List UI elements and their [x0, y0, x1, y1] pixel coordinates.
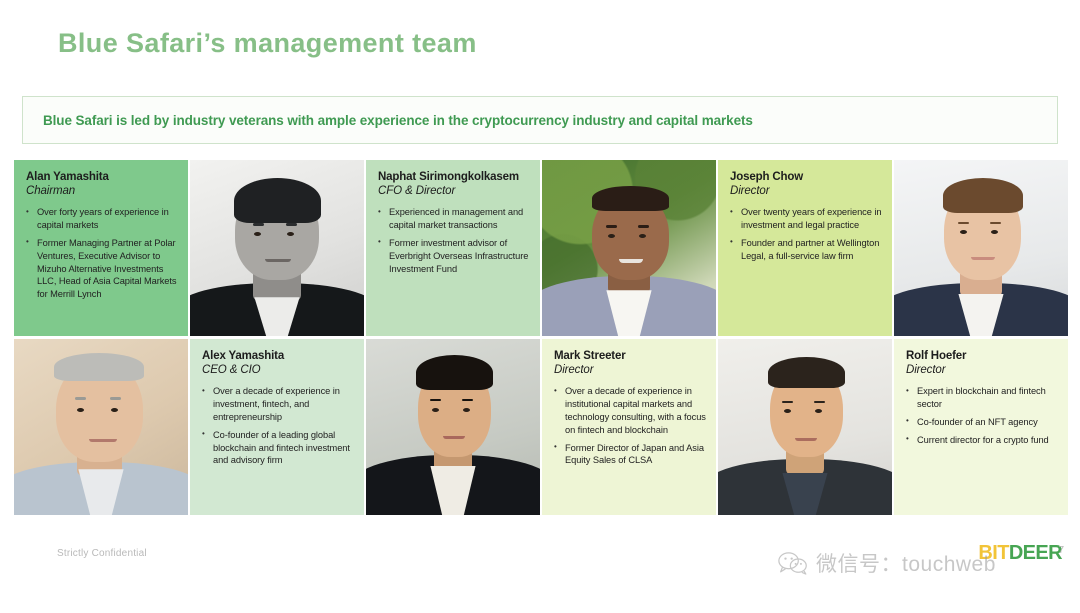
confidentiality-note: Strictly Confidential — [57, 548, 147, 559]
team-row-1: Alan Yamashita Chairman Over forty years… — [14, 160, 1068, 336]
person-name: Alan Yamashita — [26, 170, 178, 184]
person-bullets: Experienced in management and capital ma… — [378, 206, 530, 275]
person-role: Director — [730, 184, 882, 199]
person-role: Chairman — [26, 184, 178, 199]
portrait-alan-yamashita — [190, 160, 364, 336]
person-name: Joseph Chow — [730, 170, 882, 184]
list-item: Co-founder of an NFT agency — [906, 416, 1058, 429]
page-number: 7 — [1058, 545, 1064, 556]
list-item: Over a decade of experience in investmen… — [202, 385, 354, 423]
list-item: Former Managing Partner at Polar Venture… — [26, 237, 178, 301]
person-card-mark-streeter[interactable]: Mark Streeter Director Over a decade of … — [542, 339, 716, 515]
person-name: Rolf Hoefer — [906, 349, 1058, 363]
person-bullets: Expert in blockchain and fintech sector … — [906, 385, 1058, 446]
team-grid: Alan Yamashita Chairman Over forty years… — [14, 160, 1068, 517]
person-bullets: Over a decade of experience in instituti… — [554, 385, 706, 467]
person-card-joseph-chow[interactable]: Joseph Chow Director Over twenty years o… — [718, 160, 892, 336]
person-role: Director — [906, 363, 1058, 378]
portrait-alex-yamashita — [14, 339, 188, 515]
list-item: Current director for a crypto fund — [906, 434, 1058, 447]
person-role: CEO & CIO — [202, 363, 354, 378]
highlight-banner: Blue Safari is led by industry veterans … — [22, 96, 1058, 144]
person-card-naphat-sirimongkolkasem[interactable]: Naphat Sirimongkolkasem CFO & Director E… — [366, 160, 540, 336]
person-card-alex-yamashita[interactable]: Alex Yamashita CEO & CIO Over a decade o… — [190, 339, 364, 515]
person-name: Naphat Sirimongkolkasem — [378, 170, 530, 184]
person-name: Alex Yamashita — [202, 349, 354, 363]
portrait-rolf-hoefer — [718, 339, 892, 515]
logo-text-deer: DEER — [1009, 542, 1062, 564]
person-bullets: Over a decade of experience in investmen… — [202, 385, 354, 467]
person-role: Director — [554, 363, 706, 378]
list-item: Expert in blockchain and fintech sector — [906, 385, 1058, 411]
list-item: Over forty years of experience in capita… — [26, 206, 178, 232]
portrait-mark-streeter — [366, 339, 540, 515]
list-item: Over a decade of experience in instituti… — [554, 385, 706, 436]
person-name: Mark Streeter — [554, 349, 706, 363]
list-item: Experienced in management and capital ma… — [378, 206, 530, 232]
page-title: Blue Safari’s management team — [58, 28, 477, 59]
portrait-naphat-sirimongkolkasem — [542, 160, 716, 336]
list-item: Former investment advisor of Everbright … — [378, 237, 530, 275]
list-item: Co-founder of a leading global blockchai… — [202, 429, 354, 467]
person-card-alan-yamashita[interactable]: Alan Yamashita Chairman Over forty years… — [14, 160, 188, 336]
list-item: Former Director of Japan and Asia Equity… — [554, 442, 706, 468]
team-row-2: Alex Yamashita CEO & CIO Over a decade o… — [14, 339, 1068, 515]
person-role: CFO & Director — [378, 184, 530, 199]
list-item: Over twenty years of experience in inves… — [730, 206, 882, 232]
wechat-watermark: 微信号：touchweb — [778, 548, 996, 578]
banner-text: Blue Safari is led by industry veterans … — [23, 113, 753, 128]
watermark-text: 微信号：touchweb — [816, 548, 996, 578]
list-item: Founder and partner at Wellington Legal,… — [730, 237, 882, 263]
person-bullets: Over twenty years of experience in inves… — [730, 206, 882, 262]
wechat-icon — [778, 551, 808, 575]
portrait-joseph-chow — [894, 160, 1068, 336]
person-card-rolf-hoefer[interactable]: Rolf Hoefer Director Expert in blockchai… — [894, 339, 1068, 515]
person-bullets: Over forty years of experience in capita… — [26, 206, 178, 301]
